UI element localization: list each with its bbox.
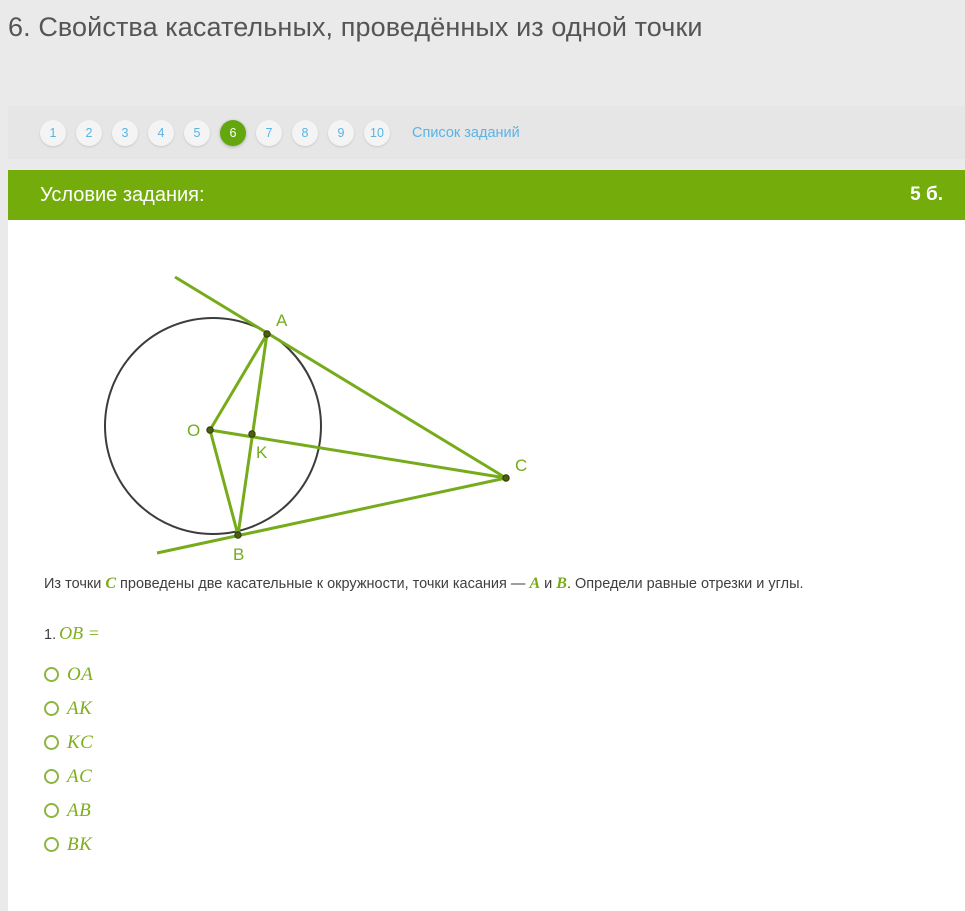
pager-item-6-active[interactable]: 6 — [220, 120, 246, 146]
exercise-page: 6. Свойства касательных, проведённых из … — [0, 0, 965, 911]
label-b: B — [233, 545, 244, 560]
radio-icon[interactable] — [44, 667, 59, 682]
option-row-4[interactable]: AC — [44, 760, 965, 794]
content-area: A B C O K Из точки C проведены две касат… — [8, 220, 965, 911]
radio-icon[interactable] — [44, 769, 59, 784]
pagination-bar: 1 2 3 4 5 6 7 8 9 10 Список заданий — [8, 106, 965, 159]
pager-item-2[interactable]: 2 — [76, 120, 102, 146]
sub-question-number: 1. — [44, 627, 56, 643]
options-list: OA AK KC AC AB BK — [44, 658, 965, 862]
page-title: 6. Свойства касательных, проведённых из … — [8, 10, 947, 46]
question-part-2: проведены две касательные к окружности, … — [116, 576, 529, 592]
radio-icon[interactable] — [44, 735, 59, 750]
geometry-figure: A B C O K — [28, 220, 588, 560]
label-o: O — [187, 421, 200, 440]
pager-item-7[interactable]: 7 — [256, 120, 282, 146]
label-c: C — [515, 456, 527, 475]
segment-oa — [210, 334, 267, 430]
pager-item-1[interactable]: 1 — [40, 120, 66, 146]
point-b — [235, 532, 241, 538]
pager-item-10[interactable]: 10 — [364, 120, 390, 146]
question-part-3: и — [540, 576, 556, 592]
option-label-1: OA — [67, 664, 93, 686]
option-row-2[interactable]: AK — [44, 692, 965, 726]
option-label-4: AC — [67, 766, 92, 788]
pager-item-9[interactable]: 9 — [328, 120, 354, 146]
sub-question-expression: OB = — [59, 623, 100, 643]
option-label-2: AK — [67, 698, 92, 720]
sub-question: 1.OB = — [44, 623, 965, 644]
radio-icon[interactable] — [44, 837, 59, 852]
option-label-5: AB — [67, 800, 91, 822]
option-label-3: KC — [67, 732, 93, 754]
segment-ob — [210, 430, 238, 535]
tangent-line-a — [175, 277, 506, 478]
geometry-svg: A B C O K — [28, 220, 588, 560]
option-label-6: BK — [67, 834, 92, 856]
option-row-5[interactable]: AB — [44, 794, 965, 828]
option-row-3[interactable]: KC — [44, 726, 965, 760]
point-c — [503, 475, 509, 481]
pager-item-5[interactable]: 5 — [184, 120, 210, 146]
question-var-c: C — [105, 575, 116, 592]
label-k: K — [256, 443, 268, 462]
task-list-link[interactable]: Список заданий — [412, 125, 520, 141]
question-part-4: . Определи равные отрезки и углы. — [567, 576, 804, 592]
option-row-1[interactable]: OA — [44, 658, 965, 692]
radio-icon[interactable] — [44, 803, 59, 818]
condition-points: 5 б. — [910, 184, 943, 206]
segment-oc — [210, 430, 506, 478]
label-a: A — [276, 311, 288, 330]
tangent-line-b — [157, 478, 506, 553]
point-k — [249, 431, 255, 437]
pager-item-8[interactable]: 8 — [292, 120, 318, 146]
pager-item-4[interactable]: 4 — [148, 120, 174, 146]
title-area: 6. Свойства касательных, проведённых из … — [0, 0, 965, 88]
pager-item-3[interactable]: 3 — [112, 120, 138, 146]
condition-title: Условие задания: — [40, 184, 205, 207]
option-row-6[interactable]: BK — [44, 828, 965, 862]
condition-bar: Условие задания: 5 б. — [8, 170, 965, 220]
question-var-a: A — [529, 575, 540, 592]
question-part-1: Из точки — [44, 576, 105, 592]
point-o — [207, 427, 213, 433]
radio-icon[interactable] — [44, 701, 59, 716]
point-a — [264, 331, 270, 337]
question-text: Из точки C проведены две касательные к о… — [44, 572, 914, 597]
question-var-b: B — [556, 575, 567, 592]
